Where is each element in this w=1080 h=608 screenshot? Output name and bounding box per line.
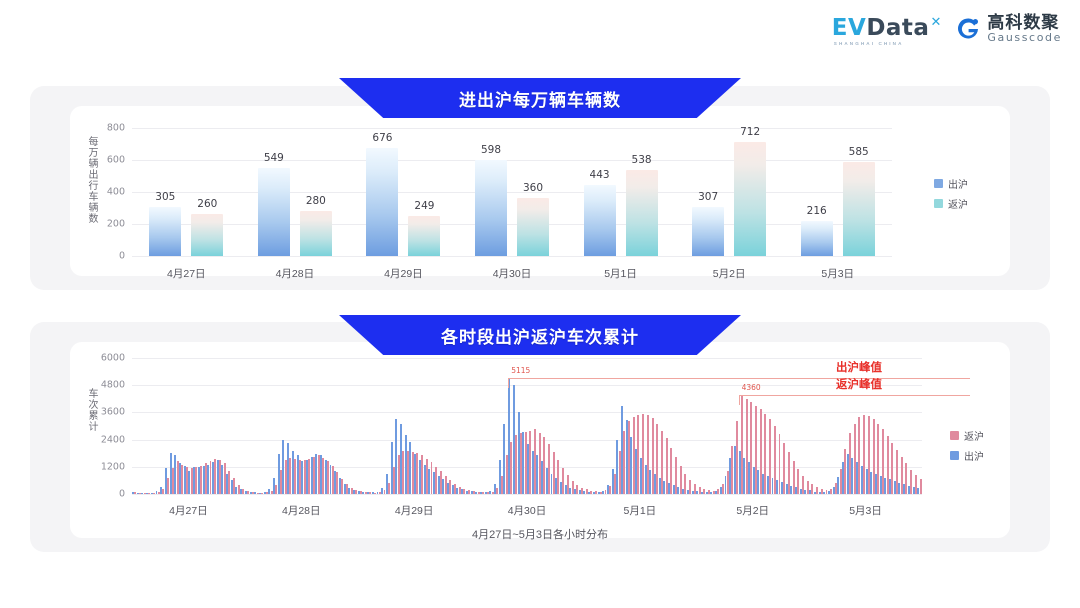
evdata-tagline: SHANGHAI CHINA: [834, 41, 904, 46]
peak-value-label: 4360: [742, 383, 761, 392]
bar-value-label: 443: [590, 169, 610, 181]
section1-title-text: 进出沪每万辆车辆数: [459, 86, 621, 111]
slide-page: EVData ✕ SHANGHAI CHINA 高科数聚 Gausscode 0…: [0, 0, 1080, 608]
legend-item: 出沪: [934, 176, 968, 191]
bar-value-label: 585: [849, 146, 869, 158]
bar-出沪: 307: [692, 207, 724, 256]
bar-出沪: 598: [475, 160, 507, 256]
x-axis-category-label: 4月29日: [349, 266, 458, 281]
bar-value-label: 360: [523, 182, 543, 194]
chart-card-1: 02004006008003052604月27日5492804月28日67624…: [70, 106, 1010, 276]
bar-返沪: 260: [191, 214, 223, 256]
peak-name-label: 出沪峰值: [836, 359, 882, 375]
evdata-wordmark: EVData: [832, 17, 930, 40]
chart-gridline: [132, 224, 892, 225]
bar-value-label: 280: [306, 195, 326, 207]
peak-annotation-line: [739, 395, 970, 396]
y-axis-tick-label: 2400: [101, 434, 125, 445]
x-axis-category-label: 4月27日: [132, 266, 241, 281]
section-hourly-cumulative: 0120024003600480060004月27日4月28日4月29日4月30…: [30, 322, 1050, 552]
x-axis-category-label: 5月3日: [783, 266, 892, 281]
bar-返沪: 249: [408, 216, 440, 256]
bar-返沪: 538: [626, 170, 658, 256]
bar-chart-daily: 02004006008003052604月27日5492804月28日67624…: [132, 128, 892, 256]
chart2-legend: 返沪出沪: [950, 428, 984, 463]
x-axis-category-label: 4月29日: [358, 503, 471, 518]
peak-annotation-tick: [508, 378, 509, 388]
chart-gridline: [132, 385, 922, 386]
legend-label: 返沪: [964, 428, 984, 443]
y-axis-tick-label: 6000: [101, 353, 125, 364]
evdata-ev-text: EV: [832, 15, 867, 41]
bar-value-label: 249: [414, 200, 434, 212]
x-axis-category-label: 4月30日: [458, 266, 567, 281]
y-axis-tick-label: 3600: [101, 407, 125, 418]
y-axis-tick-label: 4800: [101, 380, 125, 391]
bar-value-label: 307: [698, 191, 718, 203]
bar-value-label: 549: [264, 152, 284, 164]
bar-value-label: 538: [632, 154, 652, 166]
x-axis-category-label: 4月30日: [471, 503, 584, 518]
y-axis-tick-label: 1200: [101, 461, 125, 472]
bar-chart-hourly: 0120024003600480060004月27日4月28日4月29日4月30…: [132, 358, 922, 494]
peak-annotation-line: [508, 378, 970, 379]
chart-gridline: [132, 358, 922, 359]
legend-swatch: [950, 431, 959, 440]
legend-swatch: [934, 199, 943, 208]
bar-出沪: 676: [366, 148, 398, 256]
chart1-legend: 出沪返沪: [934, 176, 968, 211]
section2-title-banner: 各时段出沪返沪车次累计: [339, 315, 741, 355]
y-axis-tick-label: 0: [119, 251, 125, 262]
bar-value-label: 260: [197, 198, 217, 210]
x-axis-category-label: 5月3日: [809, 503, 922, 518]
gausscode-g-icon: [955, 16, 981, 42]
chart-gridline: [132, 128, 892, 129]
chart-gridline: [132, 494, 922, 495]
x-axis-category-label: 5月2日: [675, 266, 784, 281]
x-axis-category-label: 5月1日: [566, 266, 675, 281]
bar-返沪: 280: [300, 211, 332, 256]
bar-返沪: 585: [843, 162, 875, 256]
x-axis-category-label: 5月2日: [696, 503, 809, 518]
chart1-y-axis-label: 每万辆出行车辆数: [84, 136, 99, 224]
bar-出沪: 216: [801, 221, 833, 256]
section2-title-text: 各时段出沪返沪车次累计: [441, 323, 639, 348]
peak-annotation-tick: [739, 395, 740, 405]
bar-value-label: 216: [807, 205, 827, 217]
legend-label: 返沪: [948, 196, 968, 211]
x-axis-category-label: 4月27日: [132, 503, 245, 518]
gausscode-cn-text: 高科数聚: [987, 14, 1062, 32]
peak-name-label: 返沪峰值: [836, 376, 882, 392]
legend-item: 返沪: [934, 196, 968, 211]
chart-gridline: [132, 412, 922, 413]
legend-label: 出沪: [948, 176, 968, 191]
evdata-x-icon: ✕: [930, 15, 941, 28]
evdata-data-text: Data: [866, 15, 929, 41]
bar-value-label: 676: [372, 132, 392, 144]
x-axis-category-label: 5月1日: [583, 503, 696, 518]
legend-item: 出沪: [950, 448, 984, 463]
chart-gridline: [132, 256, 892, 257]
x-axis-category-label: 4月28日: [241, 266, 350, 281]
section1-title-banner: 进出沪每万辆车辆数: [339, 78, 741, 118]
bar-value-label: 712: [740, 126, 760, 138]
bar-返沪: 712: [734, 142, 766, 256]
gausscode-logo: 高科数聚 Gausscode: [955, 14, 1062, 43]
chart-gridline: [132, 192, 892, 193]
gausscode-wordmark: 高科数聚 Gausscode: [987, 14, 1062, 43]
evdata-logo: EVData ✕ SHANGHAI CHINA: [832, 17, 942, 40]
bar-value-label: 598: [481, 144, 501, 156]
legend-label: 出沪: [964, 448, 984, 463]
bar-value-label: 305: [155, 191, 175, 203]
legend-item: 返沪: [950, 428, 984, 443]
x-axis-category-label: 4月28日: [245, 503, 358, 518]
chart-card-2: 0120024003600480060004月27日4月28日4月29日4月30…: [70, 342, 1010, 538]
y-axis-tick-label: 600: [107, 155, 125, 166]
bar-出沪: 443: [584, 185, 616, 256]
y-axis-tick-label: 800: [107, 123, 125, 134]
bar-返沪: 360: [517, 198, 549, 256]
legend-swatch: [934, 179, 943, 188]
y-axis-tick-label: 400: [107, 187, 125, 198]
bar-出沪: 549: [258, 168, 290, 256]
hour-bar-ret: [920, 479, 922, 494]
y-axis-tick-label: 0: [119, 489, 125, 500]
y-axis-tick-label: 200: [107, 219, 125, 230]
chart2-y-axis-label: 车次累计: [84, 388, 99, 432]
brand-header: EVData ✕ SHANGHAI CHINA 高科数聚 Gausscode: [832, 14, 1062, 43]
chart-gridline: [132, 440, 922, 441]
gausscode-en-text: Gausscode: [987, 32, 1062, 44]
chart2-x-caption: 4月27日~5月3日各小时分布: [70, 526, 1010, 542]
bar-出沪: 305: [149, 207, 181, 256]
peak-value-label: 5115: [511, 366, 530, 375]
chart-gridline: [132, 160, 892, 161]
legend-swatch: [950, 451, 959, 460]
